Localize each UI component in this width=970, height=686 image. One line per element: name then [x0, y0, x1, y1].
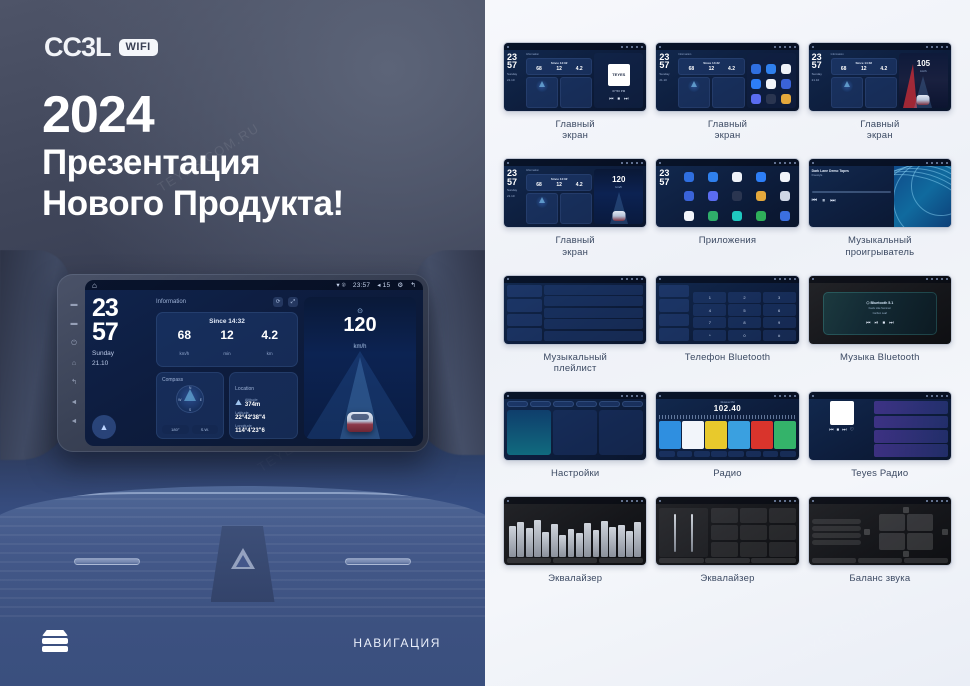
thumbnail-content: Dark Lane Demo Tapes Freestyle ⏮⏸⏭	[809, 159, 951, 227]
thumb-information-card: Since 14:32 68 12 4.2	[526, 58, 592, 75]
back-key[interactable]: ↰	[71, 379, 77, 386]
thumb-compass-card	[831, 77, 863, 108]
thumb-equalizer-presets[interactable]	[659, 508, 795, 557]
navigation-widget[interactable]: ⊙ 120 km/h	[304, 297, 416, 439]
screen-caption: Главныйэкран	[860, 119, 899, 141]
clock-minutes: 57	[92, 321, 150, 345]
screen-caption: Телефон Bluetooth	[685, 352, 771, 363]
vent-slot-right	[345, 558, 411, 565]
stat-speed: 68 km/h	[163, 329, 206, 360]
screen-thumbnail[interactable]: ⏮⏹⏭♡	[808, 391, 952, 461]
hero-headline: 2024 Презентация Нового Продукта!	[42, 88, 344, 225]
stop-icon: ⏹	[618, 96, 621, 102]
watermark: TEYES.COM.RU	[790, 590, 897, 665]
screen-caption: Главныйэкран	[556, 119, 595, 141]
left-hero-panel: TEYES.COM.RU TEYES.COM.RU TEYES.COM.RU C…	[0, 0, 485, 686]
screen-thumbnail[interactable]: 2357 Sunday21.10 Information Since 14:32…	[503, 42, 647, 112]
app-icon	[732, 191, 742, 201]
thumb-speed-value: 120	[594, 175, 643, 184]
clock-weekday: Sunday	[92, 350, 114, 357]
compass-west: W	[178, 398, 181, 402]
prev-icon: ⏮	[609, 96, 614, 102]
thumb-equalizer-sliders[interactable]	[507, 506, 643, 557]
headline-line2: Нового Продукта!	[42, 183, 344, 224]
screen-thumbnail[interactable]: 123456789*0#	[655, 275, 799, 345]
thumb-location-card	[865, 77, 897, 108]
thumbnail-content	[504, 276, 646, 344]
vent-slot-left	[74, 558, 140, 565]
compass-south: S	[189, 408, 191, 412]
thumb-information-card: Since 14:32 68 12 4.2	[831, 58, 897, 75]
compass-dial: N E S W	[176, 385, 204, 413]
thumbnail-content: 2357 Sunday21.10 Information Since 14:32…	[809, 43, 951, 111]
presentation-slide: TEYES.COM.RU TEYES.COM.RU TEYES.COM.RU C…	[0, 0, 970, 686]
thumb-clock: 2357 Sunday21.10	[507, 53, 524, 108]
head-unit: ▬ ▬ ⏻ ⌂ ↰ ◄ ◄ ⌂ ▾ ⌾ 23:57 ◂ 15	[57, 274, 429, 452]
thumb-speed-value: 105	[899, 59, 948, 68]
stat-distance: 4.2 km	[248, 329, 291, 360]
screen-caption: Музыкальныйпроигрыватель	[845, 235, 914, 257]
thumb-location-card	[560, 77, 592, 108]
app-icon	[708, 191, 718, 201]
app-icon	[780, 172, 790, 182]
gallery-item[interactable]: Receive FM 102.40 Радио	[655, 391, 799, 479]
head-unit-screen[interactable]: ⌂ ▾ ⌾ 23:57 ◂ 15 ⚙ ↰ 23 57	[85, 280, 423, 446]
thumb-clock: 2357 Sunday21.10	[812, 53, 829, 108]
altitude-value: 374m	[245, 402, 260, 408]
next-icon: ⏭	[830, 198, 835, 205]
thumb-compass-card	[678, 77, 710, 108]
app-icon	[732, 211, 742, 221]
screen-caption: Баланс звука	[849, 573, 910, 584]
thumbnail-content	[809, 497, 951, 565]
home-key[interactable]: ⌂	[72, 360, 76, 367]
screen-caption: Настройки	[551, 468, 599, 479]
layers-stack-icon	[42, 630, 68, 652]
location-card[interactable]: Location ⛰ Altitude 374m	[229, 372, 298, 439]
screen-caption: Эквалайзер	[700, 573, 754, 584]
thumb-apps-pane	[747, 53, 796, 108]
expand-icon[interactable]: ⤢	[288, 297, 298, 307]
pause-icon: ⏸	[822, 198, 825, 205]
logo-wifi-badge: WIFI	[119, 39, 158, 56]
prev-icon: ⏮	[812, 198, 817, 205]
thumb-playlist[interactable]	[507, 285, 643, 341]
screen-caption: Приложения	[699, 235, 757, 246]
radio-presets	[659, 421, 795, 449]
thumbnail-content: 2357 Sunday21.10 Information Since 14:32…	[504, 43, 646, 111]
screen-caption: Радио	[713, 468, 741, 479]
screen-thumbnail[interactable]: ⬡ Bluetooth 5.1 Feels Like Summer Carbon…	[808, 275, 952, 345]
screen-thumbnail[interactable]: Receive FM 102.40	[655, 391, 799, 461]
screen-caption: Главныйэкран	[708, 119, 747, 141]
thumbnail-content	[504, 497, 646, 565]
app-icon	[756, 191, 766, 201]
radio-frequency: 102.40	[659, 404, 795, 413]
information-since: Since 14:32	[163, 318, 291, 325]
thumbnail-content: Receive FM 102.40	[656, 392, 798, 460]
thumb-media-pane: TEYES 07:50 PM ⏮⏹⏭	[594, 53, 643, 108]
thumbnail-content: 2357	[656, 159, 798, 227]
compass-north: N	[189, 386, 192, 390]
gallery-item[interactable]: Настройки	[503, 391, 647, 479]
screen-caption: Музыкальныйплейлист	[543, 352, 607, 374]
thumb-clock: 2357 Sunday21.10	[659, 53, 676, 108]
screen-caption: Эквалайзер	[548, 573, 602, 584]
screen-caption: Музыка Bluetooth	[840, 352, 920, 363]
stat-duration: 12 min	[206, 329, 249, 360]
gallery-item[interactable]: 2357 Sunday21.10 Information Since 14:32…	[503, 42, 647, 141]
information-title: Information	[156, 299, 186, 305]
gallery-item[interactable]: Dark Lane Demo Tapes Freestyle ⏮⏸⏭ Музык…	[808, 158, 952, 257]
thumb-settings[interactable]	[507, 401, 643, 457]
gallery-item[interactable]: 123456789*0#Телефон Bluetooth	[655, 275, 799, 374]
screenshot-grid: 2357 Sunday21.10 Information Since 14:32…	[503, 42, 952, 585]
thumbnail-content	[656, 497, 798, 565]
gallery-item[interactable]: ⏮⏹⏭♡ Teyes Радио	[808, 391, 952, 479]
speed-unit: km/h	[353, 344, 366, 350]
status-clock: 23:57	[353, 282, 370, 289]
location-title: Location	[235, 386, 254, 392]
screens-gallery-panel: TEYES.COM.RU TEYES.COM.RU TEYES.COM.RU T…	[485, 0, 970, 686]
thumbnail-content: 123456789*0#	[656, 276, 798, 344]
thumb-compass-card	[526, 193, 558, 224]
thumb-compass-card	[526, 77, 558, 108]
gear-icon[interactable]: ⚙	[397, 281, 403, 289]
compass-bearing: S.W.	[192, 425, 219, 434]
current-speed: 120	[304, 315, 416, 335]
app-icon	[708, 172, 718, 182]
gallery-item[interactable]: 2357 Sunday21.10 Information Since 14:32…	[503, 158, 647, 257]
status-bar: ⌂ ▾ ⌾ 23:57 ◂ 15 ⚙ ↰	[85, 280, 423, 290]
home-icon[interactable]: ⌂	[92, 281, 97, 290]
headline-line1: Презентация	[42, 142, 344, 183]
mountain-icon: ⛰	[235, 398, 242, 408]
gallery-item[interactable]: Эквалайзер	[503, 496, 647, 584]
app-icon	[756, 172, 766, 182]
thumbnail-content: 2357 Sunday21.10 Information Since 14:32…	[504, 159, 646, 227]
thumb-radio[interactable]: Receive FM 102.40	[659, 401, 795, 457]
compass-east: E	[200, 398, 202, 402]
logo-model-text: CC3L	[44, 32, 111, 63]
power-key[interactable]: ⏻	[71, 340, 77, 347]
thumbnail-content	[504, 392, 646, 460]
thumbnail-content: ⬡ Bluetooth 5.1 Feels Like Summer Carbon…	[809, 276, 951, 344]
next-icon: ⏭	[624, 96, 629, 102]
hazard-warning-icon[interactable]	[231, 548, 255, 569]
thumb-information-card: Since 14:32 68 12 4.2	[526, 174, 592, 191]
gallery-item[interactable]: Музыкальныйплейлист	[503, 275, 647, 374]
latitude-value: 22°42'38"4	[235, 415, 292, 421]
thumb-navigation-pane: 105 km/h	[899, 53, 948, 108]
thumb-location-card	[712, 77, 744, 108]
reset-key[interactable]: ◄	[71, 418, 78, 425]
app-icon	[684, 172, 694, 182]
thumbnail-content: ⏮⏹⏭♡	[809, 392, 951, 460]
mic-key[interactable]: ◄	[71, 399, 78, 406]
back-arrow-icon[interactable]: ↰	[410, 281, 416, 289]
app-icon	[708, 211, 718, 221]
screen-caption: Teyes Радио	[851, 468, 908, 479]
compass-title: Compass	[162, 377, 218, 383]
thumb-sound-balance[interactable]	[812, 507, 948, 557]
thumbnail-content: 2357 Sunday21.10 Information Since 14:32…	[656, 43, 798, 111]
thumb-teyes-radio[interactable]: ⏮⏹⏭♡	[812, 401, 948, 457]
gallery-item[interactable]: Эквалайзер	[655, 496, 799, 584]
screen-thumbnail[interactable]	[503, 391, 647, 461]
app-icon	[756, 211, 766, 221]
thumb-dialpad[interactable]: 123456789*0#	[693, 292, 795, 341]
screen-thumbnail[interactable]: Dark Lane Demo Tapes Freestyle ⏮⏸⏭	[808, 158, 952, 228]
gallery-item[interactable]: 2357 Sunday21.10 Information Since 14:32…	[808, 42, 952, 141]
screen-thumbnail[interactable]	[503, 496, 647, 566]
thumb-location-card	[560, 193, 592, 224]
app-icon	[684, 191, 694, 201]
gallery-item[interactable]: 2357 Sunday21.10 Information Since 14:32…	[655, 42, 799, 141]
thumb-app-grid[interactable]	[678, 168, 795, 224]
screen-thumbnail[interactable]: 2357 Sunday21.10 Information Since 14:32…	[655, 42, 799, 112]
app-icon	[732, 172, 742, 182]
app-icon	[780, 191, 790, 201]
bluetooth-badge: ⬡ Bluetooth 5.1	[866, 301, 893, 305]
navigation-label: НАВИГАЦИЯ	[353, 636, 441, 650]
thumb-now-playing: Dark Lane Demo Tapes Freestyle ⏮⏸⏭	[812, 169, 892, 205]
clock-widget: 23 57 Sunday 21.10 ▲	[92, 297, 150, 439]
app-icon	[780, 211, 790, 221]
thumb-navigation-pane: 120 km/h	[594, 169, 643, 224]
head-unit-side-keys[interactable]: ▬ ▬ ⏻ ⌂ ↰ ◄ ◄	[63, 280, 85, 446]
dashboard-air-vents	[0, 486, 485, 686]
vehicle-3d-model	[347, 412, 373, 432]
volume-up-key[interactable]: ▬	[71, 301, 78, 308]
thumb-visualizer	[894, 166, 951, 227]
gallery-item[interactable]: ⬡ Bluetooth 5.1 Feels Like Summer Carbon…	[808, 275, 952, 374]
screen-thumbnail[interactable]: 2357 Sunday21.10 Information Since 14:32…	[808, 42, 952, 112]
volume-down-key[interactable]: ▬	[71, 320, 78, 327]
headline-year: 2024	[42, 88, 344, 142]
refresh-icon[interactable]: ⟳	[273, 297, 283, 307]
screen-thumbnail[interactable]: 2357	[655, 158, 799, 228]
thumb-information-card: Since 14:32 68 12 4.2	[678, 58, 744, 75]
compass-card[interactable]: Compass N E S W	[156, 372, 224, 439]
gallery-item[interactable]: 2357 Приложения	[655, 158, 799, 257]
wifi-icon[interactable]: ▾ ⌾	[336, 281, 346, 290]
longitude-value: 114°4'23"6	[235, 428, 292, 434]
app-icon	[684, 211, 694, 221]
car-dashboard-photo: ▬ ▬ ⏻ ⌂ ↰ ◄ ◄ ⌂ ▾ ⌾ 23:57 ◂ 15	[0, 250, 485, 686]
gallery-item[interactable]: Баланс звука	[808, 496, 952, 584]
screen-thumbnail[interactable]	[655, 496, 799, 566]
album-art: TEYES	[608, 64, 630, 86]
compass-heading: 180°	[162, 425, 189, 434]
thumb-clock: 2357 Sunday21.10	[507, 169, 524, 224]
thumb-bt-music: ⬡ Bluetooth 5.1 Feels Like Summer Carbon…	[809, 284, 951, 344]
screen-thumbnail[interactable]: 2357 Sunday21.10 Information Since 14:32…	[503, 158, 647, 228]
navigation-arrow-icon[interactable]: ▲	[92, 415, 116, 439]
product-logo: CC3L WIFI	[44, 32, 158, 63]
screen-caption: Главныйэкран	[556, 235, 595, 257]
information-card: Since 14:32 68 km/h 12 min	[156, 312, 298, 367]
screen-thumbnail[interactable]	[503, 275, 647, 345]
clock-date: 21.10	[92, 360, 108, 367]
volume-indicator[interactable]: ◂ 15	[377, 281, 390, 289]
screen-thumbnail[interactable]	[808, 496, 952, 566]
